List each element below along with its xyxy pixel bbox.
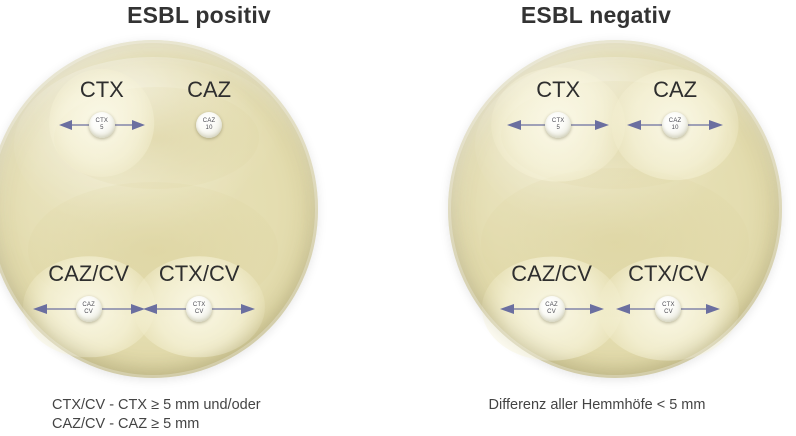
disc-text-line2: CV (84, 309, 93, 316)
panel-esbl-negative: ESBL negativ CTX CTX 5 CAZ (398, 0, 796, 436)
disc-label-ctx: CTX (536, 77, 580, 103)
disc-text-line2: CV (664, 309, 673, 316)
antibiotic-disc-ctx-cv: CTX CV (186, 296, 212, 322)
disc-text-line2: CV (547, 309, 556, 316)
disc-text-line2: 10 (672, 125, 679, 132)
antibiotic-disc-caz: CAZ 10 (196, 112, 222, 138)
disc-text-line2: 5 (556, 125, 560, 132)
antibiotic-disc-ctx: CTX 5 (89, 112, 115, 138)
disc-label-caz-cv: CAZ/CV (511, 261, 592, 287)
disc-label-ctx-cv: CTX/CV (159, 261, 240, 287)
agar-plate-esbl-positive: CTX CTX 5 CAZ CAZ 10 CAZ/CV (0, 40, 318, 378)
disc-label-ctx: CTX (80, 77, 124, 103)
antibiotic-disc-caz: CAZ 10 (662, 112, 688, 138)
agar-plate-esbl-negative: CTX CTX 5 CAZ CAZ 10 CAZ/CV (448, 40, 782, 378)
panel-title-esbl-negative: ESBL negativ (416, 2, 776, 29)
panel-title-esbl-positive: ESBL positiv (0, 2, 398, 29)
antibiotic-disc-caz-cv: CAZ CV (76, 296, 102, 322)
agar-surface (0, 40, 318, 378)
disc-label-caz: CAZ (653, 77, 697, 103)
disc-label-caz-cv: CAZ/CV (48, 261, 129, 287)
antibiotic-disc-ctx: CTX 5 (545, 112, 571, 138)
disc-text-line2: CV (195, 309, 204, 316)
antibiotic-disc-ctx-cv: CTX CV (655, 296, 681, 322)
caption-esbl-negative: Differenz aller Hemmhöfe < 5 mm (398, 396, 796, 415)
caption-esbl-positive: CTX/CV - CTX ≥ 5 mm und/oder CAZ/CV - CA… (52, 396, 261, 434)
agar-surface (448, 40, 782, 378)
disc-label-ctx-cv: CTX/CV (628, 261, 709, 287)
panel-esbl-positive: ESBL positiv CTX CTX 5 CAZ CAZ 10 (0, 0, 398, 436)
disc-label-caz: CAZ (187, 77, 231, 103)
disc-text-line2: 10 (206, 125, 213, 132)
disc-text-line2: 5 (100, 125, 104, 132)
antibiotic-disc-caz-cv: CAZ CV (539, 296, 565, 322)
